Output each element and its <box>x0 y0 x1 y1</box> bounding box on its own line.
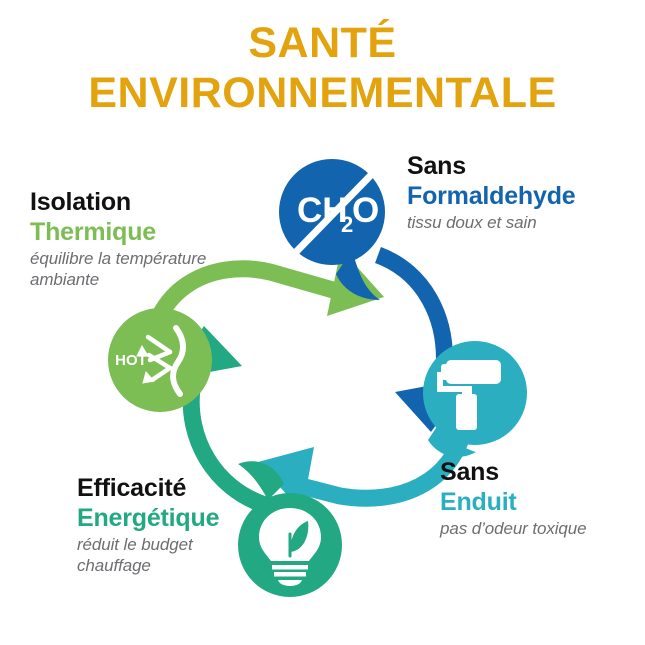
label-block-enduit: Sans Enduit pas d’odeur toxique <box>440 458 640 539</box>
efficacite-description: réduit le budget chauffage <box>77 534 257 576</box>
label-block-isolation: Isolation Thermique équilibre la tempéra… <box>30 188 265 290</box>
enduit-subheading: Enduit <box>440 487 640 517</box>
enduit-heading: Sans <box>440 458 640 487</box>
node-isolation[interactable]: HOT <box>108 308 212 412</box>
ch2o-suffix: O <box>352 191 379 230</box>
enduit-description: pas d’odeur toxique <box>440 518 640 539</box>
efficacite-subheading: Energétique <box>77 503 257 533</box>
formaldehyde-heading: Sans <box>407 152 639 181</box>
formaldehyde-subheading: Formaldehyde <box>407 181 639 211</box>
infographic-canvas: SANTÉ ENVIRONNEMENTALE HOT <box>0 0 645 645</box>
formaldehyde-description: tissu doux et sain <box>407 212 639 233</box>
isolation-subheading: Thermique <box>30 217 265 247</box>
efficacite-heading: Efficacité <box>77 474 257 503</box>
isolation-heading: Isolation <box>30 188 265 217</box>
isolation-description: équilibre la température ambiante <box>30 248 265 290</box>
label-block-formaldehyde: Sans Formaldehyde tissu doux et sain <box>407 152 639 233</box>
ch2o-prefix: CH <box>297 191 348 230</box>
label-block-efficacite: Efficacité Energétique réduit le budget … <box>77 474 257 576</box>
node-enduit[interactable] <box>423 341 527 457</box>
